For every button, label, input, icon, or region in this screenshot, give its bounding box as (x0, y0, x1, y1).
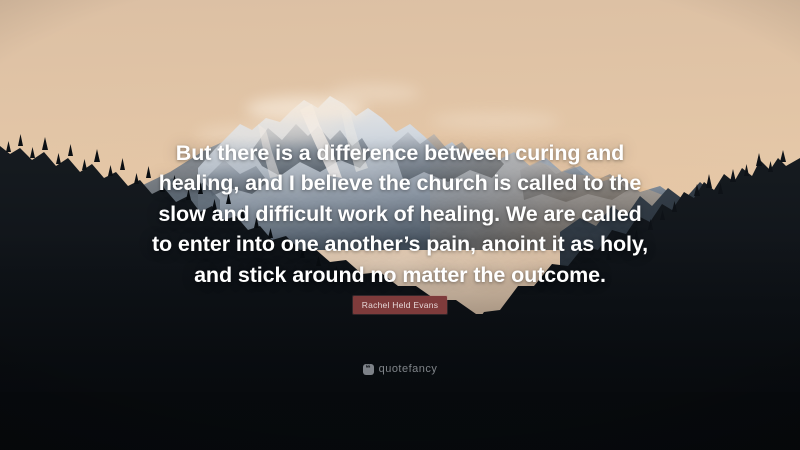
quote-text: But there is a difference between curing… (150, 138, 650, 290)
watermark[interactable]: ❝ quotefancy (0, 363, 800, 375)
quote-mark-icon: ❝ (363, 364, 374, 375)
content-layer: But there is a difference between curing… (0, 0, 800, 450)
author-badge[interactable]: Rachel Held Evans (353, 296, 448, 314)
watermark-brand: quotefancy (379, 363, 438, 375)
quote-wallpaper: But there is a difference between curing… (0, 0, 800, 450)
author-row: Rachel Held Evans (0, 295, 800, 314)
